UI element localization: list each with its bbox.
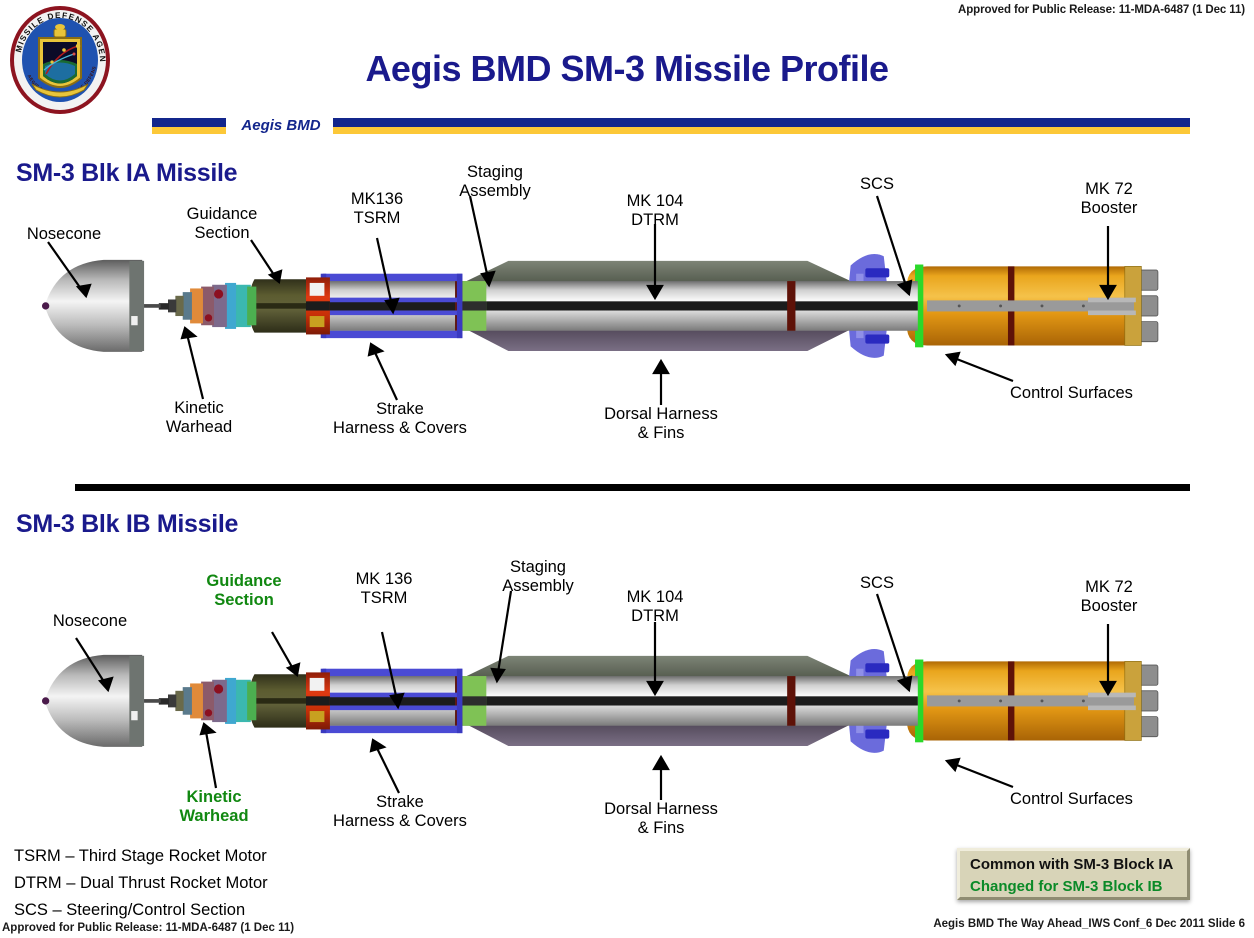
label-staging-assembly-ib: StagingAssembly [468, 558, 608, 596]
label-dorsal-harness-ia: Dorsal Harness& Fins [576, 405, 746, 443]
label-mk72-booster-ib: MK 72Booster [1050, 578, 1168, 616]
label-staging-assembly-ia: StagingAssembly [425, 163, 565, 201]
missile-graphic-blk-ib [42, 649, 1158, 753]
legend-changed-label: Changed for SM-3 Block IB [970, 876, 1187, 898]
missile-graphic-blk-ia [42, 254, 1158, 358]
label-kinetic-warhead-ib: KineticWarhead [152, 788, 276, 826]
label-mk104-dtrm-ib: MK 104DTRM [595, 588, 715, 626]
label-scs-ia: SCS [840, 175, 914, 194]
legend-box: Common with SM-3 Block IA Changed for SM… [957, 848, 1190, 900]
label-strake-harness-ia: StrakeHarness & Covers [300, 400, 500, 438]
page-title: Aegis BMD SM-3 Missile Profile [0, 48, 1254, 90]
acronym-scs: SCS – Steering/Control Section [14, 897, 268, 924]
label-guidance-section-ia: GuidanceSection [160, 205, 284, 243]
label-dorsal-harness-ib: Dorsal Harness& Fins [564, 800, 758, 838]
label-control-surfaces-ib: Control Surfaces [1010, 790, 1185, 809]
label-strake-harness-ib: StrakeHarness & Covers [300, 793, 500, 831]
banner-bar-right [333, 118, 1190, 134]
label-control-surfaces-ia: Control Surfaces [1010, 384, 1185, 403]
banner-label: Aegis BMD [231, 117, 331, 134]
legend-common-label: Common with SM-3 Block IA [970, 854, 1187, 876]
label-mk72-booster-ia: MK 72Booster [1050, 180, 1168, 218]
acronym-tsrm: TSRM – Third Stage Rocket Motor [14, 843, 268, 870]
public-release-footer: Approved for Public Release: 11-MDA-6487… [2, 922, 294, 934]
label-nosecone-ia: Nosecone [10, 225, 118, 244]
footer-note: Aegis BMD The Way Ahead_IWS Conf_6 Dec 2… [933, 918, 1245, 930]
section-divider [75, 484, 1190, 491]
label-scs-ib: SCS [840, 574, 914, 593]
label-guidance-section-ib: GuidanceSection [182, 572, 306, 610]
label-kinetic-warhead-ia: KineticWarhead [139, 399, 259, 437]
label-mk136-tsrm-ib: MK 136TSRM [322, 570, 446, 608]
section-title-blk-ib: SM-3 Blk IB Missile [16, 510, 238, 539]
banner-bar-left [152, 118, 226, 134]
label-mk104-dtrm-ia: MK 104DTRM [595, 192, 715, 230]
acronym-dtrm: DTRM – Dual Thrust Rocket Motor [14, 870, 268, 897]
label-mk136-tsrm-ia: MK136TSRM [318, 190, 436, 228]
label-nosecone-ib: Nosecone [30, 612, 150, 631]
section-title-blk-ia: SM-3 Blk IA Missile [16, 159, 237, 188]
public-release-header: Approved for Public Release: 11-MDA-6487… [958, 4, 1245, 16]
acronym-list: TSRM – Third Stage Rocket Motor DTRM – D… [14, 843, 268, 924]
